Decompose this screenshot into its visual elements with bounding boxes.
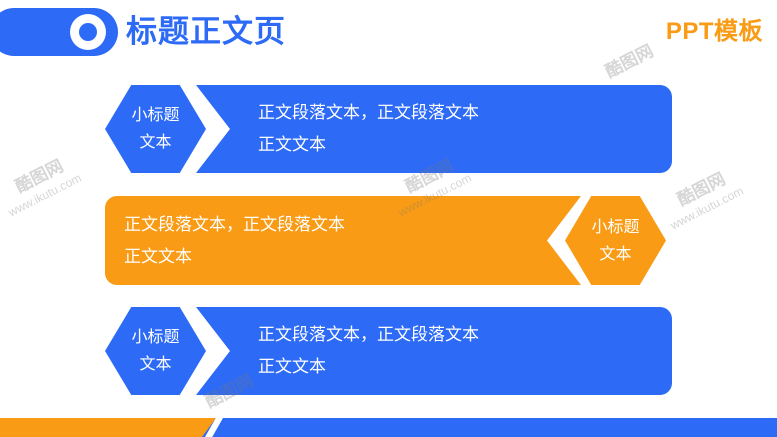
- content-row-1[interactable]: 小标题 文本 正文段落文本，正文段落文本 正文文本: [0, 85, 777, 173]
- page-title: 标题正文页: [126, 11, 286, 53]
- ring-circle-icon: [70, 14, 106, 50]
- watermark-brand: 酷图网: [600, 37, 657, 82]
- row-3-badge-line-1: 小标题: [131, 324, 179, 351]
- row-1-badge-line-1: 小标题: [131, 102, 179, 129]
- row-2-badge-hexagon[interactable]: 小标题 文本: [565, 196, 666, 285]
- content-row-3[interactable]: 小标题 文本 正文段落文本，正文段落文本 正文文本: [0, 307, 777, 395]
- slide-canvas: 标题正文页 PPT模板 小标题 文本 正文段落文本，正文段落文本 正文文本 小标…: [0, 0, 777, 437]
- content-row-2[interactable]: 小标题 文本 正文段落文本，正文段落文本 正文文本: [0, 196, 777, 285]
- row-1-body-text: 正文段落文本，正文段落文本 正文文本: [258, 85, 658, 173]
- row-1-body-line-2: 正文文本: [258, 129, 658, 161]
- row-2-badge-line-2: 文本: [599, 241, 631, 268]
- row-2-body-line-2: 正文文本: [124, 241, 554, 273]
- row-2-badge-line-1: 小标题: [591, 214, 639, 241]
- footer-bar: [0, 418, 777, 437]
- footer-bar-left-segment: [0, 418, 216, 437]
- row-3-body-line-2: 正文文本: [258, 351, 658, 383]
- row-3-body-text: 正文段落文本，正文段落文本 正文文本: [258, 307, 658, 395]
- row-3-badge-hexagon[interactable]: 小标题 文本: [105, 307, 206, 395]
- row-3-body-line-1: 正文段落文本，正文段落文本: [258, 319, 658, 351]
- brand-label: PPT模板: [666, 16, 763, 48]
- row-1-badge-hexagon[interactable]: 小标题 文本: [105, 85, 206, 173]
- ring-circle-inner: [79, 23, 97, 41]
- row-3-badge-line-2: 文本: [139, 351, 171, 378]
- row-2-body-text: 正文段落文本，正文段落文本 正文文本: [124, 196, 554, 285]
- row-1-badge-line-2: 文本: [139, 129, 171, 156]
- row-2-body-line-1: 正文段落文本，正文段落文本: [124, 209, 554, 241]
- row-1-body-line-1: 正文段落文本，正文段落文本: [258, 97, 658, 129]
